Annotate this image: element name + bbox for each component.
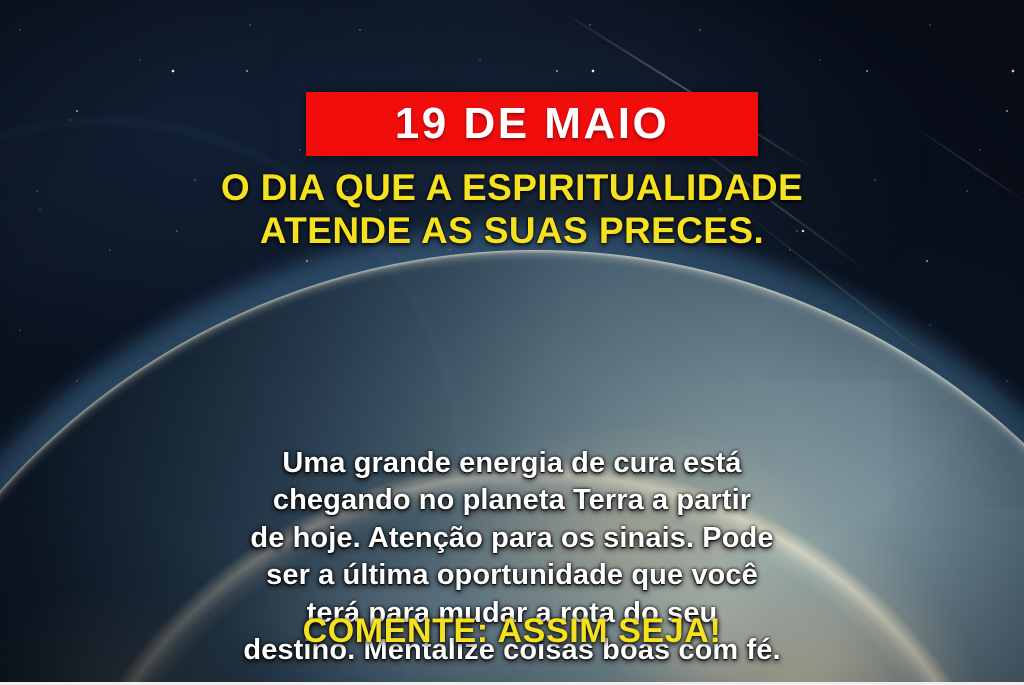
- body-line-3: de hoje. Atenção para os sinais. Pode: [56, 520, 968, 557]
- poster-content: 19 DE MAIO O DIA QUE A ESPIRITUALIDADE A…: [0, 0, 1024, 685]
- date-banner: 19 DE MAIO: [306, 92, 758, 156]
- body-line-4: ser a última oportunidade que você: [56, 557, 968, 594]
- headline-line-2: ATENDE AS SUAS PRECES.: [40, 209, 984, 252]
- body-line-1: Uma grande energia de cura está: [56, 445, 968, 482]
- body-line-2: chegando no planeta Terra a partir: [56, 482, 968, 519]
- poster-image: 19 DE MAIO O DIA QUE A ESPIRITUALIDADE A…: [0, 0, 1024, 685]
- headline-line-1: O DIA QUE A ESPIRITUALIDADE: [40, 166, 984, 209]
- headline: O DIA QUE A ESPIRITUALIDADE ATENDE AS SU…: [0, 166, 1024, 253]
- date-banner-label: 19 DE MAIO: [395, 102, 669, 146]
- call-to-action-text: COMENTE: ASSIM SEJA!: [0, 614, 1024, 648]
